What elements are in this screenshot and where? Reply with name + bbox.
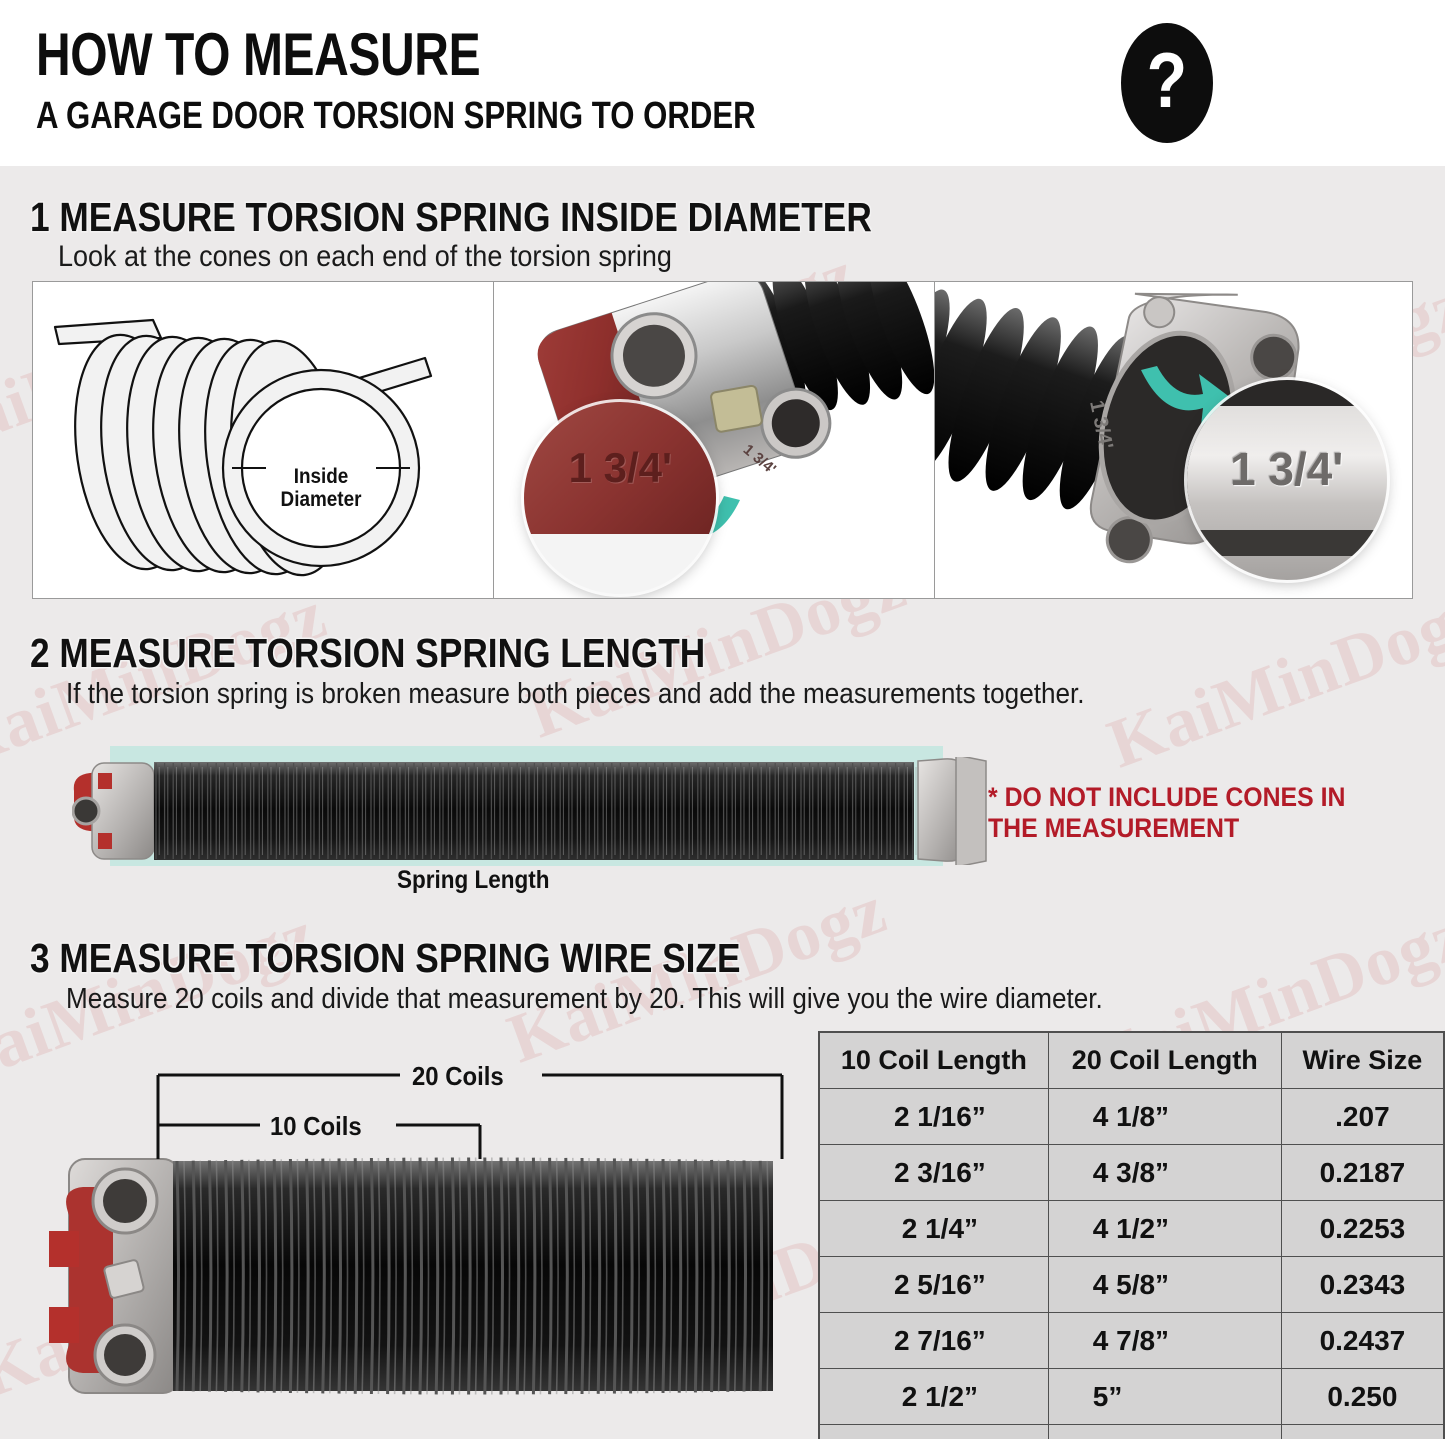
question-mark-icon: ? <box>1121 23 1213 143</box>
cell-wire-size: 0.2437 <box>1281 1313 1444 1369</box>
cell-wire-size: .207 <box>1281 1089 1444 1145</box>
cell-10-coil-length: 2 5/16” <box>819 1257 1048 1313</box>
table-header-10-coil: 10 Coil Length <box>819 1032 1048 1089</box>
step-1-subheading: Look at the cones on each end of the tor… <box>58 240 672 274</box>
magnifier-bubble: 1 3/4' <box>524 402 716 594</box>
cell-20-coil-length: 5 1/4” <box>1048 1425 1281 1439</box>
cell-20-coil-length: 5” <box>1048 1369 1281 1425</box>
page-subtitle: A GARAGE DOOR TORSION SPRING TO ORDER <box>36 96 756 136</box>
red-cone-photo: 1 3/4' 1 3/4' <box>494 282 933 598</box>
step-1-heading: 1 MEASURE TORSION SPRING INSIDE DIAMETER <box>30 194 872 241</box>
winding-cone <box>49 1159 179 1393</box>
cell-20-coil-length: 4 7/8” <box>1048 1313 1281 1369</box>
right-cone <box>918 757 986 865</box>
warning-line-1: * DO NOT INCLUDE CONES IN <box>988 782 1345 812</box>
cell-20-coil-length: 4 3/8” <box>1048 1145 1281 1201</box>
spring-length-label: Spring Length <box>397 866 549 895</box>
spring-coil-body <box>154 762 916 860</box>
table-row: 2 1/4”4 1/2”0.2253 <box>819 1201 1444 1257</box>
torsion-spring-photo-coils <box>45 1145 775 1420</box>
table-row: 2 1/16”4 1/8”.207 <box>819 1089 1444 1145</box>
inside-diameter-label-line2: Diameter <box>281 488 362 511</box>
cell-wire-size: 0.2625 <box>1281 1425 1444 1439</box>
torsion-spring-line-drawing <box>33 282 493 598</box>
cell-wire-size: 0.2343 <box>1281 1257 1444 1313</box>
cell-10-coil-length: 2 5/8” <box>819 1425 1048 1439</box>
step-3-subheading: Measure 20 coils and divide that measure… <box>66 983 1103 1016</box>
question-mark-glyph: ? <box>1147 41 1188 119</box>
wire-size-table: 10 Coil Length 20 Coil Length Wire Size … <box>818 1031 1445 1439</box>
table-header-20-coil: 20 Coil Length <box>1048 1032 1281 1089</box>
table-row: 2 5/8”5 1/4”0.2625 <box>819 1425 1444 1439</box>
red-cone-photo-panel: 1 3/4' 1 3/4' <box>493 282 933 598</box>
cell-20-coil-length: 4 5/8” <box>1048 1257 1281 1313</box>
table-row: 2 5/16”4 5/8”0.2343 <box>819 1257 1444 1313</box>
step-1-panels: Inside Diameter <box>32 281 1413 599</box>
step-2-subheading: If the torsion spring is broken measure … <box>66 678 1085 711</box>
inside-diameter-label: Inside Diameter <box>226 460 416 511</box>
inside-diameter-diagram-panel: Inside Diameter <box>33 282 493 598</box>
table-body: 2 1/16”4 1/8”.2072 3/16”4 3/8”0.21872 1/… <box>819 1089 1444 1439</box>
watermark-text: KaiMinDogz <box>1098 575 1445 785</box>
cell-10-coil-length: 2 1/16” <box>819 1089 1048 1145</box>
step-3-heading: 3 MEASURE TORSION SPRING WIRE SIZE <box>30 935 741 982</box>
magnifier-bubble: 1 3/4' <box>1187 380 1387 580</box>
warning-line-2: THE MEASUREMENT <box>988 813 1239 843</box>
cell-10-coil-length: 2 1/4” <box>819 1201 1048 1257</box>
cell-20-coil-length: 4 1/2” <box>1048 1201 1281 1257</box>
label-10-coils: 10 Coils <box>263 1111 369 1142</box>
page-title: HOW TO MEASURE <box>36 24 480 86</box>
left-cone <box>73 763 154 859</box>
spring-coil-body-3 <box>173 1145 773 1409</box>
cell-wire-size: 0.2187 <box>1281 1145 1444 1201</box>
grey-cone-photo-panel: 1 3/4' 1 3/4' <box>934 282 1412 598</box>
cell-10-coil-length: 2 3/16” <box>819 1145 1048 1201</box>
infographic-page: KaiMinDogz KaiMinDogz KaiMinDogz KaiMinD… <box>0 0 1445 1439</box>
torsion-spring-photo-long <box>72 757 992 865</box>
label-20-coils: 20 Coils <box>405 1061 511 1092</box>
inside-diameter-label-line1: Inside <box>294 465 349 488</box>
page-header: HOW TO MEASURE A GARAGE DOOR TORSION SPR… <box>0 0 1445 166</box>
coil-count-brackets: 20 Coils 10 Coils <box>150 1063 790 1163</box>
grey-cone-photo: 1 3/4' 1 3/4' <box>935 282 1412 598</box>
magnifier-size-text: 1 3/4' <box>524 444 716 492</box>
warning-text: * DO NOT INCLUDE CONES IN THE MEASUREMEN… <box>988 782 1374 844</box>
table-row: 2 7/16”4 7/8”0.2437 <box>819 1313 1444 1369</box>
cell-10-coil-length: 2 1/2” <box>819 1369 1048 1425</box>
cell-20-coil-length: 4 1/8” <box>1048 1089 1281 1145</box>
table-header-row: 10 Coil Length 20 Coil Length Wire Size <box>819 1032 1444 1089</box>
cell-10-coil-length: 2 7/16” <box>819 1313 1048 1369</box>
table-header-wire-size: Wire Size <box>1281 1032 1444 1089</box>
magnifier-size-text: 1 3/4' <box>1187 442 1387 496</box>
step-2-heading: 2 MEASURE TORSION SPRING LENGTH <box>30 630 705 677</box>
table-row: 2 1/2”5”0.250 <box>819 1369 1444 1425</box>
cell-wire-size: 0.250 <box>1281 1369 1444 1425</box>
table-row: 2 3/16”4 3/8”0.2187 <box>819 1145 1444 1201</box>
cell-wire-size: 0.2253 <box>1281 1201 1444 1257</box>
